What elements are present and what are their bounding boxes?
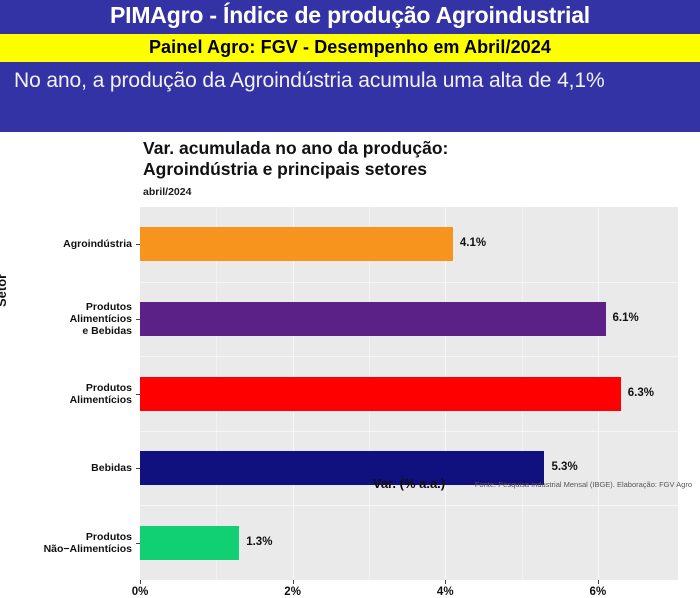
x-tick-mark	[445, 580, 446, 584]
x-tick-mark	[598, 580, 599, 584]
bar-value-label: 5.3%	[551, 461, 577, 473]
x-tick-mark	[140, 580, 141, 584]
plot-area: 4.1%6.1%6.3%5.3%1.3%	[140, 207, 678, 580]
y-tick-label: ProdutosAlimentícios	[4, 382, 132, 406]
row-separator	[140, 356, 678, 357]
bar-value-label: 6.1%	[613, 312, 639, 324]
chart-subtitle: abril/2024	[143, 186, 191, 198]
bar-value-label: 1.3%	[246, 536, 272, 548]
bar[interactable]	[140, 526, 239, 560]
subtitle-stripe: Painel Agro: FGV - Desempenho em Abril/2…	[0, 34, 700, 62]
page-title: PIMAgro - Índice de produção Agroindustr…	[0, 2, 700, 29]
row-separator	[140, 505, 678, 506]
y-tick-mark	[136, 244, 140, 245]
row-separator	[140, 282, 678, 283]
row-separator	[140, 431, 678, 432]
chart-card: Var. acumulada no ano da produção: Agroi…	[0, 132, 700, 500]
y-tick-label: Bebidas	[4, 462, 132, 474]
y-tick-label: Agroindústria	[4, 238, 132, 250]
x-tick-label: 6%	[590, 586, 607, 598]
y-tick-mark	[136, 394, 140, 395]
x-tick-mark	[293, 580, 294, 584]
y-tick-mark	[136, 543, 140, 544]
bar[interactable]	[140, 377, 621, 411]
source-note: Fonte: Pesquisa Industrial Mensal (IBGE)…	[475, 480, 692, 489]
headline-text: No ano, a produção da Agroindústria acum…	[14, 66, 692, 96]
y-tick-mark	[136, 319, 140, 320]
y-tick-mark	[136, 468, 140, 469]
y-tick-label: ProdutosAlimentíciose Bebidas	[4, 301, 132, 337]
bar[interactable]	[140, 302, 606, 336]
bar-value-label: 4.1%	[460, 237, 486, 249]
bar-value-label: 6.3%	[628, 387, 654, 399]
header-banner: PIMAgro - Índice de produção Agroindustr…	[0, 0, 700, 132]
x-tick-label: 2%	[284, 586, 301, 598]
chart-title: Var. acumulada no ano da produção: Agroi…	[143, 138, 563, 180]
bar[interactable]	[140, 227, 453, 261]
subtitle-stripe-text: Painel Agro: FGV - Desempenho em Abril/2…	[0, 37, 700, 58]
y-tick-label: ProdutosNão−Alimentícios	[4, 531, 132, 555]
x-tick-label: 0%	[132, 586, 149, 598]
x-tick-label: 4%	[437, 586, 454, 598]
